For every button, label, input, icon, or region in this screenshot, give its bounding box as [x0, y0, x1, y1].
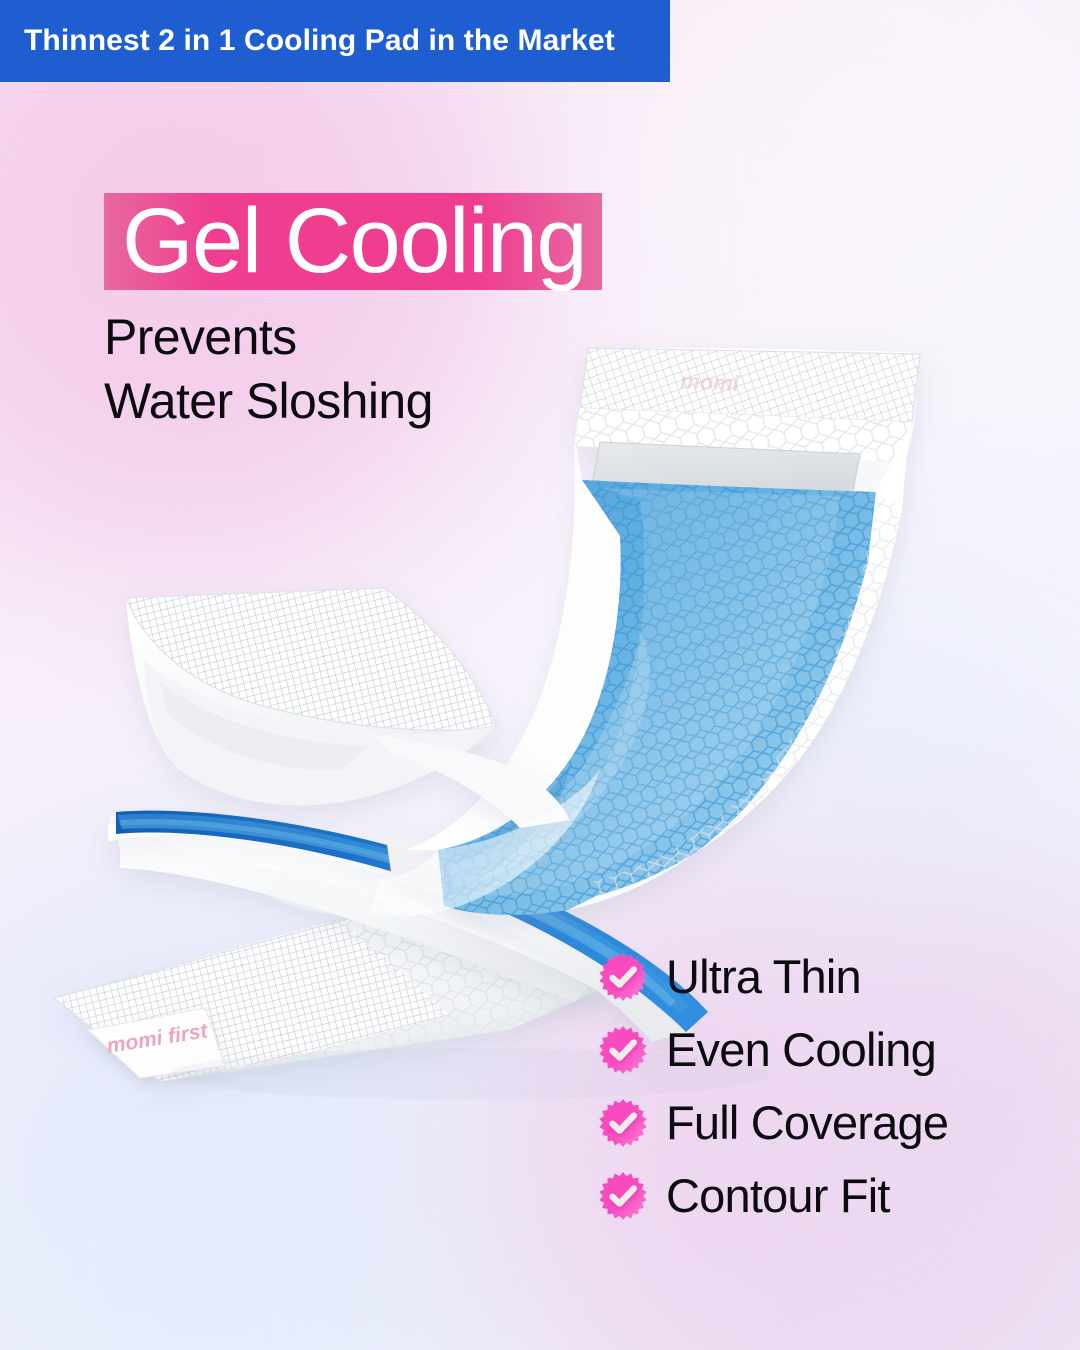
product-top-print: momi	[680, 368, 741, 396]
poster-canvas: Thinnest 2 in 1 Cooling Pad in the Marke…	[0, 0, 1080, 1350]
svg-text:momi: momi	[680, 368, 741, 396]
feature-item: Even Cooling	[598, 1013, 1018, 1086]
feature-label: Ultra Thin	[666, 953, 861, 1000]
feature-label: Full Coverage	[666, 1099, 948, 1146]
feature-item: Contour Fit	[598, 1159, 1018, 1232]
top-banner-text: Thinnest 2 in 1 Cooling Pad in the Marke…	[24, 26, 615, 56]
feature-list: Ultra ThinEven CoolingFull CoverageConto…	[598, 940, 1018, 1232]
feature-item: Full Coverage	[598, 1086, 1018, 1159]
feature-label: Even Cooling	[666, 1026, 936, 1073]
top-banner: Thinnest 2 in 1 Cooling Pad in the Marke…	[0, 0, 670, 82]
check-badge-icon	[598, 1171, 648, 1221]
feature-label: Contour Fit	[666, 1172, 890, 1219]
headline-text: Gel Cooling	[122, 193, 586, 290]
product-gel-pad: momi	[386, 348, 920, 915]
check-badge-icon	[598, 952, 648, 1002]
feature-item: Ultra Thin	[598, 940, 1018, 1013]
headline-block: Gel Cooling	[104, 193, 602, 290]
check-badge-icon	[598, 1025, 648, 1075]
check-badge-icon	[598, 1098, 648, 1148]
product-top-sheet-flap	[126, 588, 570, 828]
headline-highlight: Gel Cooling	[104, 193, 602, 290]
